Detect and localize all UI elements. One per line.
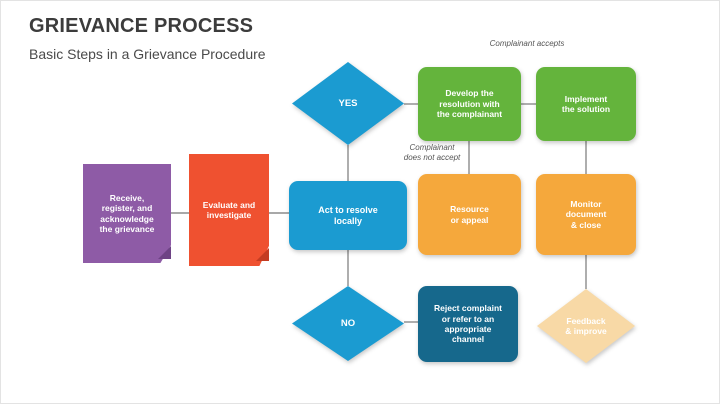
- node-act-to-resolve-locally[interactable]: Act to resolve locally: [289, 181, 407, 250]
- node-implement-solution[interactable]: Implement the solution: [536, 67, 636, 141]
- node-act-label: Act to resolve locally: [312, 205, 384, 227]
- node-no-label: NO: [335, 318, 361, 330]
- node-decision-no[interactable]: NO: [292, 286, 404, 361]
- node-develop-resolution[interactable]: Develop the resolution with the complain…: [418, 67, 521, 141]
- edge-label-complainant-does-not-accept: Complainant does not accept: [398, 143, 466, 163]
- node-yes-label: YES: [332, 98, 363, 110]
- edge-label-complainant-accepts: Complainant accepts: [462, 39, 592, 49]
- node-reject-label: Reject complaint or refer to an appropri…: [428, 303, 508, 344]
- node-monitor-document-close[interactable]: Monitor document & close: [536, 174, 636, 255]
- diagram-canvas: GRIEVANCE PROCESS Basic Steps in a Griev…: [0, 0, 720, 404]
- node-develop-label: Develop the resolution with the complain…: [431, 88, 508, 119]
- node-receive-label: Receive, register, and acknowledge the g…: [94, 193, 161, 234]
- node-monitor-label: Monitor document & close: [560, 199, 613, 230]
- node-evaluate-label: Evaluate and investigate: [197, 200, 261, 221]
- node-reject-complaint[interactable]: Reject complaint or refer to an appropri…: [418, 286, 518, 362]
- node-feedback-label: Feedback & improve: [559, 316, 613, 337]
- node-evaluate-investigate[interactable]: Evaluate and investigate: [189, 154, 269, 266]
- node-decision-yes[interactable]: YES: [292, 62, 404, 145]
- node-implement-label: Implement the solution: [556, 94, 616, 115]
- node-resource-label: Resource or appeal: [444, 204, 495, 225]
- node-resource-or-appeal[interactable]: Resource or appeal: [418, 174, 521, 255]
- node-feedback-improve[interactable]: Feedback & improve: [537, 289, 635, 363]
- node-receive-register-acknowledge[interactable]: Receive, register, and acknowledge the g…: [83, 164, 171, 263]
